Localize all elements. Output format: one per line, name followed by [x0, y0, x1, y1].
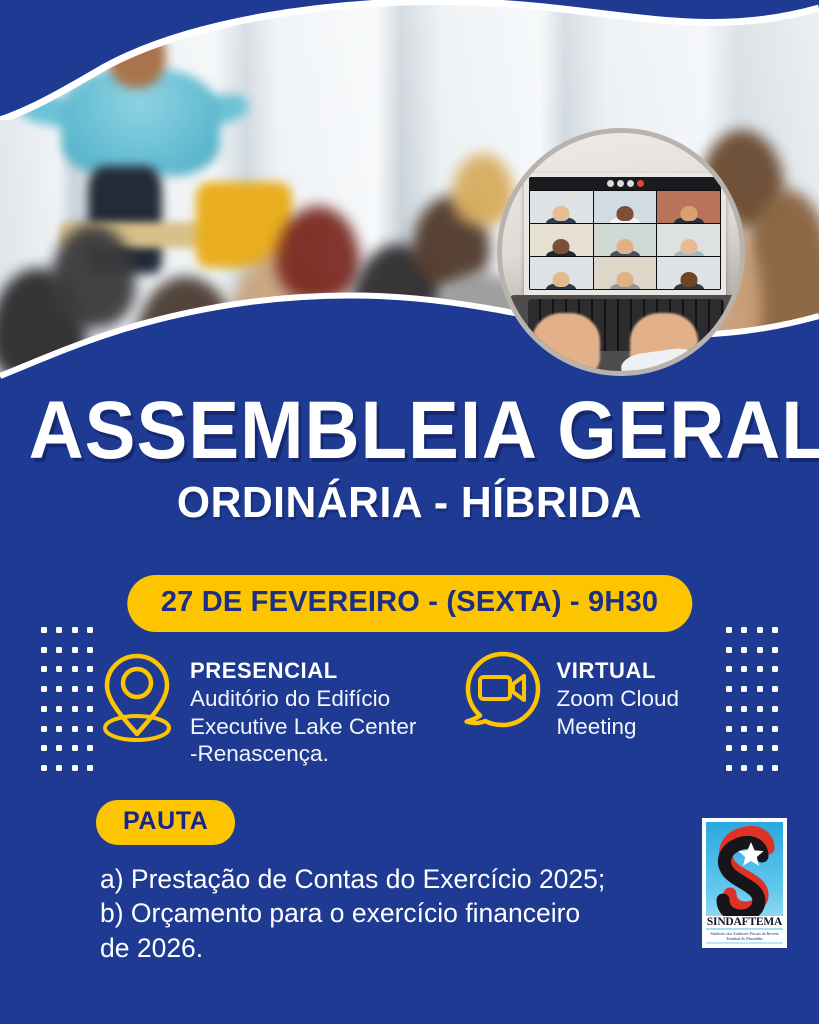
- participant-grid: [529, 190, 721, 290]
- participant-tile: [657, 224, 720, 256]
- page-subtitle: ORDINÁRIA - HÍBRIDA: [12, 480, 806, 526]
- participant-tile: [530, 257, 593, 289]
- video-icon: [617, 180, 624, 187]
- participant-tile: [594, 224, 657, 256]
- hero-photo-area: [0, 0, 819, 400]
- laptop-screen: [529, 177, 721, 290]
- participant-tile: [530, 191, 593, 223]
- participants-icon: [627, 180, 634, 187]
- hand-left: [532, 313, 600, 376]
- presenter-head: [108, 22, 166, 88]
- info-heading-virtual: VIRTUAL: [557, 658, 680, 683]
- info-block-presencial: PRESENCIAL Auditório do Edifício Executi…: [98, 648, 423, 768]
- dot-pattern-left: [36, 620, 98, 778]
- agenda-badge: PAUTA: [96, 800, 235, 845]
- participant-tile: [657, 257, 720, 289]
- page-title: ASSEMBLEIA GERAL: [29, 392, 791, 470]
- info-line: Auditório do Edifício: [190, 685, 416, 712]
- agenda-item: de 2026.: [100, 931, 660, 965]
- zoom-call-inset: [497, 128, 745, 376]
- participant-tile: [657, 191, 720, 223]
- info-line: Executive Lake Center: [190, 713, 416, 740]
- logo-name: SINDAFTEMA: [706, 916, 783, 928]
- info-line: Zoom Cloud: [557, 685, 680, 712]
- title-block: ASSEMBLEIA GERAL ORDINÁRIA - HÍBRIDA: [0, 392, 819, 526]
- info-block-virtual: VIRTUAL Zoom Cloud Meeting: [463, 648, 729, 768]
- info-line: -Renascença.: [190, 740, 416, 767]
- end-call-icon: [637, 180, 644, 187]
- info-text-presencial: PRESENCIAL Auditório do Edifício Executi…: [190, 648, 416, 768]
- laptop: [524, 173, 726, 297]
- zoom-toolbar: [529, 177, 721, 190]
- participant-tile: [530, 224, 593, 256]
- sindaftema-logo: SINDAFTEMA Sindicato dos Auditores Fisca…: [702, 818, 787, 948]
- agenda-item: a) Prestação de Contas do Exercício 2025…: [100, 862, 660, 896]
- poster-canvas: ASSEMBLEIA GERAL ORDINÁRIA - HÍBRIDA 27 …: [0, 0, 819, 1024]
- info-row: PRESENCIAL Auditório do Edifício Executi…: [98, 648, 728, 768]
- map-pin-icon: [98, 648, 176, 746]
- dot-pattern-right: [721, 620, 783, 778]
- mic-icon: [607, 180, 614, 187]
- video-camera-icon: [463, 648, 543, 736]
- info-line: Meeting: [557, 713, 680, 740]
- logo-artwork: SINDAFTEMA Sindicato dos Auditores Fisca…: [706, 822, 783, 944]
- date-badge: 27 DE FEVEREIRO - (SEXTA) - 9H30: [127, 575, 692, 632]
- logo-subtitle: Sindicato dos Auditores Fiscais da Recei…: [706, 930, 783, 942]
- participant-tile: [594, 191, 657, 223]
- agenda-list: a) Prestação de Contas do Exercício 2025…: [100, 862, 660, 965]
- participant-tile: [594, 257, 657, 289]
- info-text-virtual: VIRTUAL Zoom Cloud Meeting: [557, 648, 680, 740]
- info-heading-presencial: PRESENCIAL: [190, 658, 416, 683]
- agenda-item: b) Orçamento para o exercício financeiro: [100, 896, 660, 930]
